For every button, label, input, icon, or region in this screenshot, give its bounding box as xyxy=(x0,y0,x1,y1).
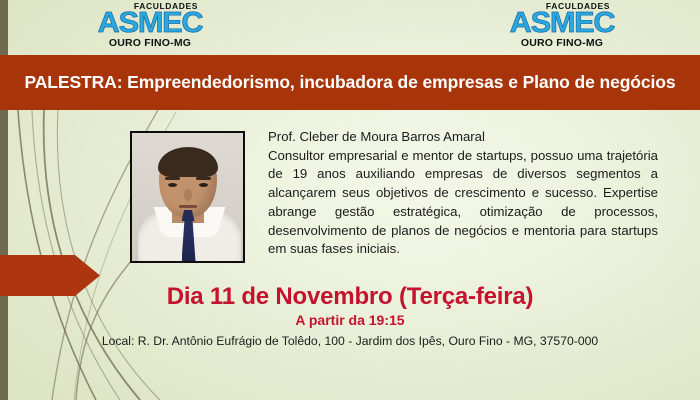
photo-hair-shape xyxy=(158,147,218,177)
speaker-name: Prof. Cleber de Moura Barros Amaral xyxy=(268,128,658,147)
asmec-logo-left: FACULDADES ASMEC OURO FINO-MG xyxy=(88,2,212,50)
photo-eye-right xyxy=(199,183,208,187)
event-flyer-slide: FACULDADES ASMEC OURO FINO-MG FACULDADES… xyxy=(0,0,700,400)
speaker-photo xyxy=(130,131,245,263)
photo-eye-left xyxy=(168,183,177,187)
logo-city-label: OURO FINO-MG xyxy=(88,38,212,49)
logo-asmec-wordmark: ASMEC xyxy=(84,10,215,38)
photo-eyebrow-right xyxy=(196,177,211,180)
event-date: Dia 11 de Novembro (Terça-feira) xyxy=(0,283,700,311)
logo-asmec-wordmark: ASMEC xyxy=(496,10,627,38)
banner-title-text: PALESTRA: Empreendedorismo, incubadora d… xyxy=(24,71,675,94)
speaker-photo-image xyxy=(132,133,243,261)
event-location: Local: R. Dr. Antônio Eufrágio de Tolêdo… xyxy=(0,334,700,348)
photo-nose-shape xyxy=(184,189,192,201)
event-time: A partir da 19:15 xyxy=(0,312,700,328)
speaker-bio-block: Prof. Cleber de Moura Barros Amaral Cons… xyxy=(268,128,658,259)
asmec-logo-right: FACULDADES ASMEC OURO FINO-MG xyxy=(500,2,624,50)
speaker-bio-text: Consultor empresarial e mentor de startu… xyxy=(268,147,658,259)
photo-mouth-shape xyxy=(179,205,197,208)
photo-eyebrow-left xyxy=(165,177,180,180)
title-banner: PALESTRA: Empreendedorismo, incubadora d… xyxy=(0,55,700,110)
logo-city-label: OURO FINO-MG xyxy=(500,38,624,49)
